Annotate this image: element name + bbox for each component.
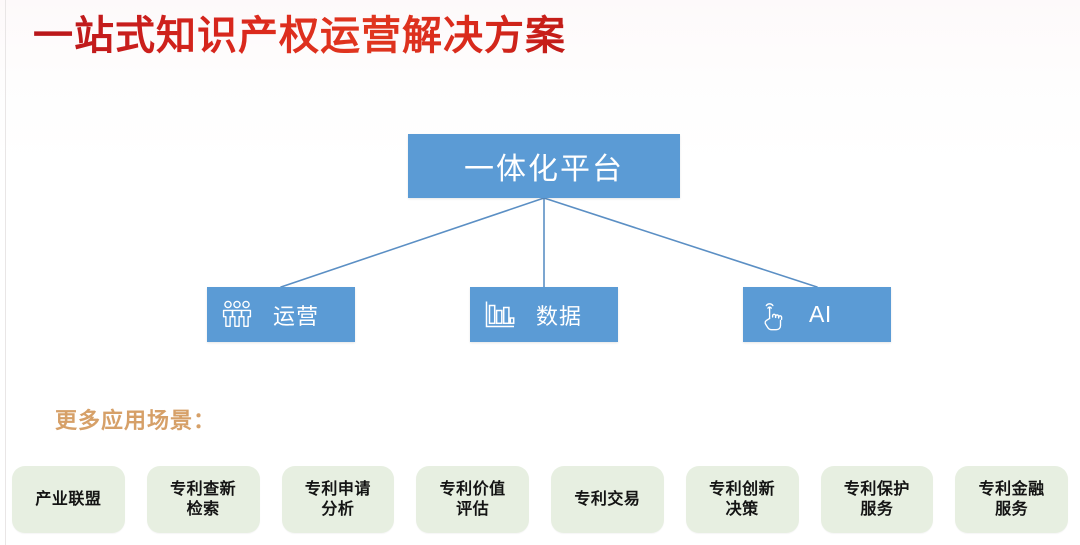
scenario-tag[interactable]: 专利申请 分析 <box>282 466 395 533</box>
scenario-tag[interactable]: 专利查新 检索 <box>147 466 260 533</box>
scenario-tag[interactable]: 专利创新 决策 <box>686 466 799 533</box>
bar-chart-icon <box>480 295 520 335</box>
page-title: 一站式知识产权运营解决方案 <box>33 12 566 60</box>
node-data[interactable]: 数据 <box>470 287 618 342</box>
connector-to-operations <box>281 198 544 287</box>
scenario-tag-row: 产业联盟 专利查新 检索 专利申请 分析 专利价值 评估 专利交易 专利创新 决… <box>12 466 1068 533</box>
scenario-tag[interactable]: 专利交易 <box>551 466 664 533</box>
slide-canvas: 一站式知识产权运营解决方案 一体化平台 运营 <box>0 0 1080 545</box>
scenario-tag[interactable]: 产业联盟 <box>12 466 125 533</box>
touch-hand-icon <box>753 295 793 335</box>
more-scenarios-heading: 更多应用场景： <box>55 406 216 436</box>
people-group-icon <box>217 295 257 335</box>
node-ai-label: AI <box>809 301 832 328</box>
scenario-tag[interactable]: 专利保护 服务 <box>821 466 934 533</box>
node-operations[interactable]: 运营 <box>207 287 355 342</box>
connector-to-ai <box>544 198 817 287</box>
node-platform-label: 一体化平台 <box>464 144 624 188</box>
node-data-label: 数据 <box>536 299 582 331</box>
scenario-tag[interactable]: 专利价值 评估 <box>416 466 529 533</box>
scenario-tag[interactable]: 专利金融 服务 <box>955 466 1068 533</box>
node-operations-label: 运营 <box>273 299 319 331</box>
node-ai[interactable]: AI <box>743 287 891 342</box>
left-edge-rule <box>5 0 6 545</box>
node-platform[interactable]: 一体化平台 <box>408 134 680 198</box>
